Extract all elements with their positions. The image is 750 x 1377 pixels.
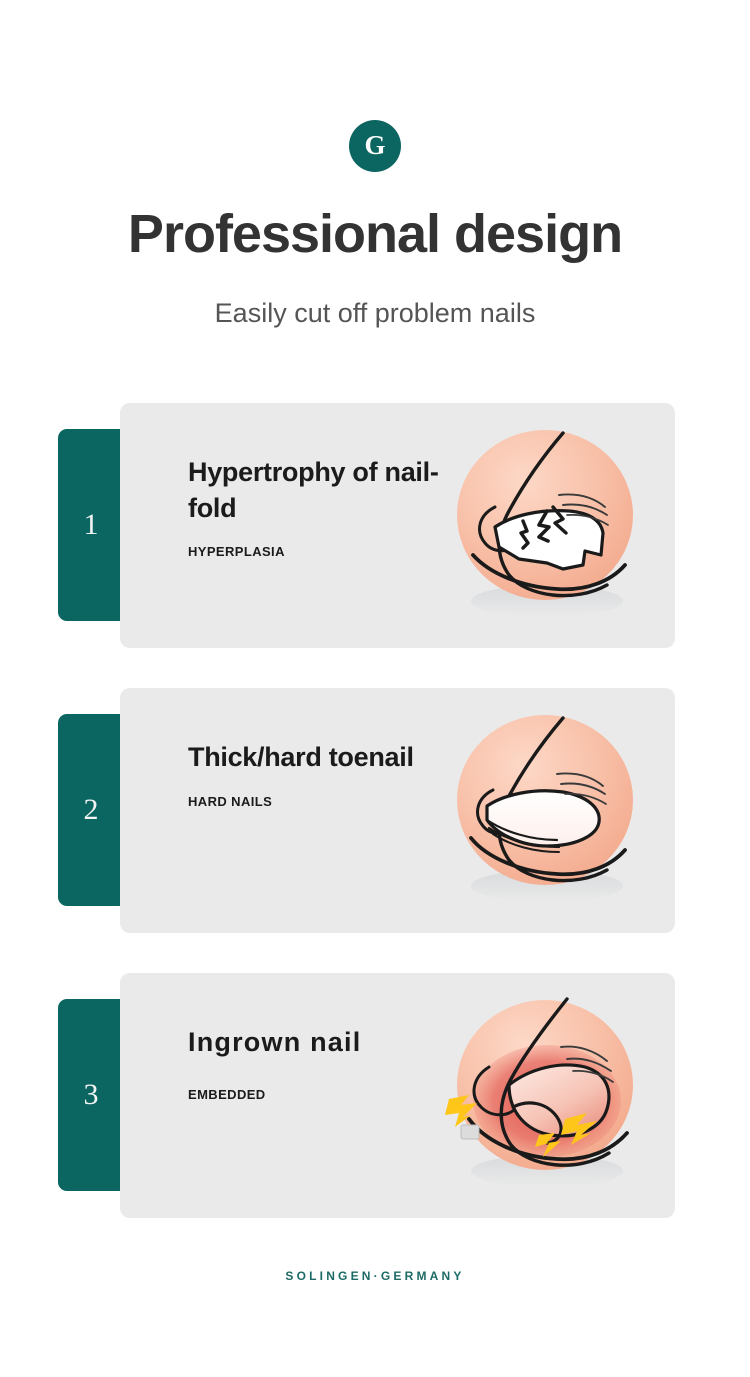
card-title: Ingrown nail: [188, 1025, 458, 1061]
card-number: 2: [84, 795, 99, 825]
card-text-block: Thick/hard toenail HARD NAILS: [188, 740, 458, 809]
card-subtitle: HYPERPLASIA: [188, 544, 458, 559]
list-item[interactable]: 2 Thick/hard toenail HARD NAILS: [0, 688, 750, 933]
toe-cracked-nail-icon: [435, 415, 655, 630]
page-subtitle: Easily cut off problem nails: [0, 297, 750, 329]
toe-ingrown-inflamed-nail-icon: [435, 985, 655, 1200]
card-number: 1: [84, 510, 99, 540]
list-item[interactable]: 1 Hypertrophy of nail-fold HYPERPLASIA: [0, 403, 750, 648]
brand-g-icon: G: [349, 120, 401, 172]
card-body[interactable]: Hypertrophy of nail-fold HYPERPLASIA: [120, 403, 675, 648]
card-number: 3: [84, 1080, 99, 1110]
card-title: Hypertrophy of nail-fold: [188, 455, 458, 526]
toe-thick-nail-icon: [435, 700, 655, 915]
page-title: Professional design: [0, 205, 750, 263]
card-body[interactable]: Thick/hard toenail HARD NAILS: [120, 688, 675, 933]
card-text-block: Ingrown nail EMBEDDED: [188, 1025, 458, 1102]
footer-brand-origin: SOLINGEN·GERMANY: [0, 1269, 750, 1283]
card-subtitle: EMBEDDED: [188, 1087, 458, 1102]
card-text-block: Hypertrophy of nail-fold HYPERPLASIA: [188, 455, 458, 559]
promo-page: G Professional design Easily cut off pro…: [0, 0, 750, 1377]
card-number-badge: 2: [58, 714, 128, 906]
list-item[interactable]: 3 Ingrown nail EMBEDDED: [0, 973, 750, 1218]
card-number-badge: 1: [58, 429, 128, 621]
card-body[interactable]: Ingrown nail EMBEDDED: [120, 973, 675, 1218]
card-title: Thick/hard toenail: [188, 740, 458, 776]
card-subtitle: HARD NAILS: [188, 794, 458, 809]
card-number-badge: 3: [58, 999, 128, 1191]
brand-mark-letter: G: [364, 132, 385, 159]
